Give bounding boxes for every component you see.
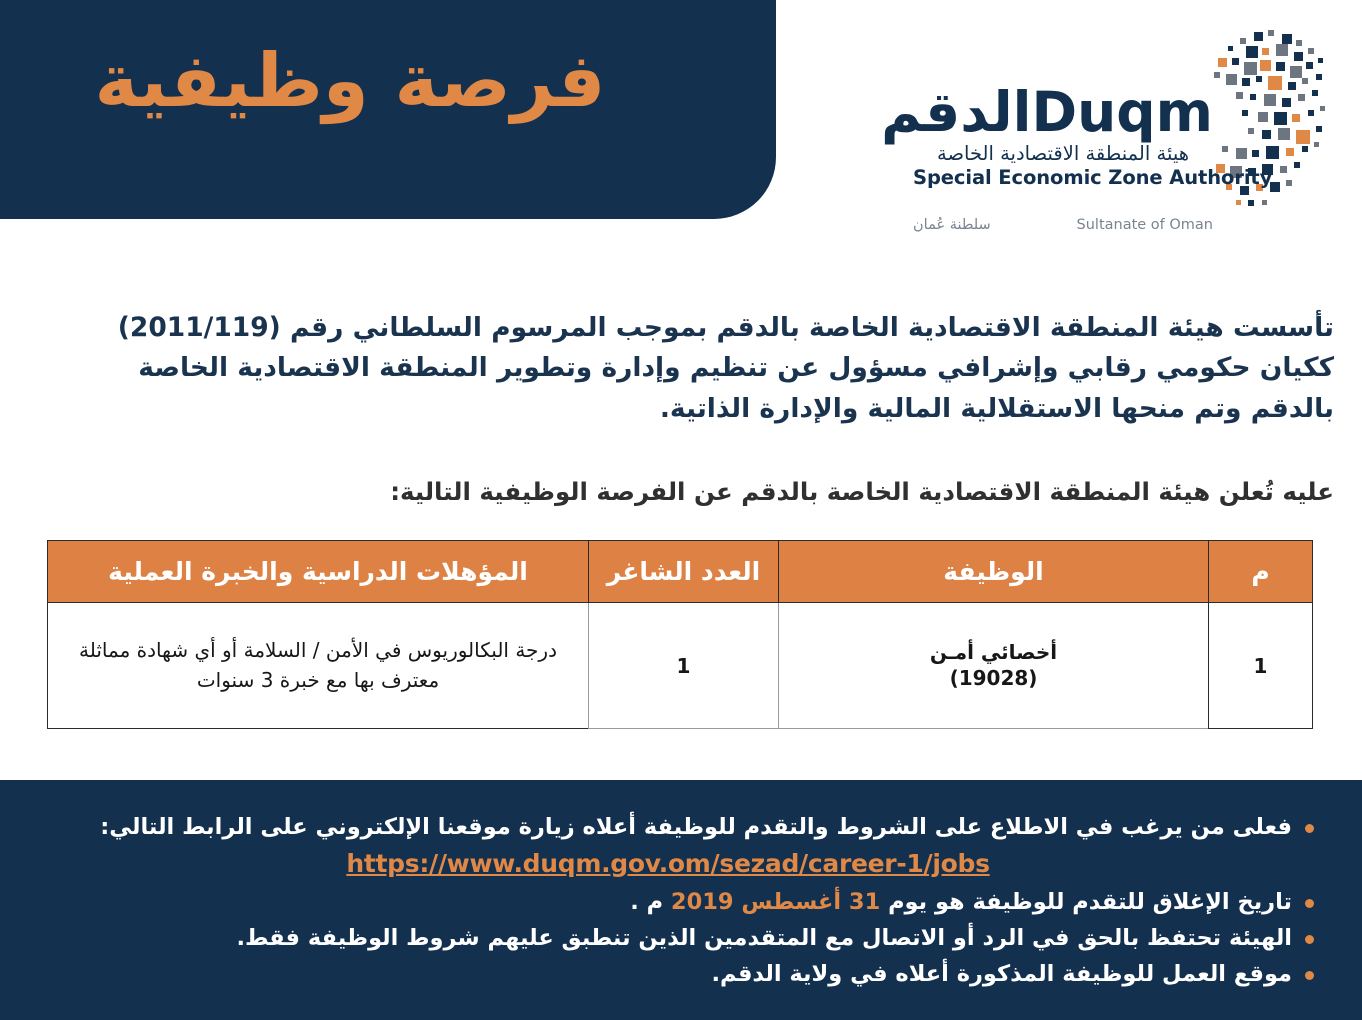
column-header-position: الوظيفة <box>779 541 1209 603</box>
jobs-table-body: 1 أخصائي أمـن (19028) 1 درجة البكالوريوس… <box>48 603 1313 729</box>
logo-subtitle-arabic: هيئة المنطقة الاقتصادية الخاصة <box>913 142 1213 166</box>
cell-position: أخصائي أمـن (19028) <box>779 603 1209 729</box>
bullet-dot-icon <box>1305 899 1314 908</box>
page-title: فرصة وظيفية <box>0 38 700 125</box>
column-header-qualifications: المؤهلات الدراسية والخبرة العملية <box>48 541 589 603</box>
column-header-serial: م <box>1209 541 1313 603</box>
logo-country-english: Sultanate of Oman <box>1077 217 1213 234</box>
jobs-table-head: م الوظيفة العدد الشاغر المؤهلات الدراسية… <box>48 541 1313 603</box>
jobs-table-container: م الوظيفة العدد الشاغر المؤهلات الدراسية… <box>48 540 1313 729</box>
poster-header: فرصة وظيفية <box>0 0 1362 262</box>
position-code: (19028) <box>795 666 1192 691</box>
duqm-mosaic-crescent-icon <box>1202 28 1342 218</box>
header-navy-banner: فرصة وظيفية <box>0 0 776 219</box>
column-header-vacancy-count: العدد الشاغر <box>589 541 779 603</box>
logo-wordmark: Duqmالدقم <box>913 84 1213 140</box>
work-location-name: ولاية الدقم <box>720 961 842 987</box>
footer-note-text: الهيئة تحتفظ بالحق في الرد أو الاتصال مع… <box>236 925 1292 951</box>
organization-logo: Duqmالدقم هيئة المنطقة الاقتصادية الخاصة… <box>905 22 1345 252</box>
announcement-line: عليه تُعلن هيئة المنطقة الاقتصادية الخاص… <box>24 475 1334 509</box>
footer-note-work-location: موقع العمل للوظيفة المذكورة أعلاه في ولا… <box>44 959 1316 991</box>
bullet-dot-icon <box>1305 824 1314 833</box>
poster-body: تأسست هيئة المنطقة الاقتصادية الخاصة بال… <box>0 262 1362 780</box>
cell-qualifications: درجة البكالوريوس في الأمن / السلامة أو أ… <box>48 603 589 729</box>
deadline-text-before: تاريخ الإغلاق للتقدم للوظيفة هو يوم <box>880 889 1292 915</box>
jobs-table: م الوظيفة العدد الشاغر المؤهلات الدراسية… <box>47 540 1313 729</box>
table-row: 1 أخصائي أمـن (19028) 1 درجة البكالوريوس… <box>48 603 1313 729</box>
footer-note-contact-policy: الهيئة تحتفظ بالحق في الرد أو الاتصال مع… <box>44 923 1316 955</box>
cell-vacancy-count: 1 <box>589 603 779 729</box>
footer-notes-list: فعلى من يرغب في الاطلاع على الشروط والتق… <box>44 812 1316 995</box>
footer-note-text: فعلى من يرغب في الاطلاع على الشروط والتق… <box>100 814 1292 840</box>
position-name: أخصائي أمـن <box>795 640 1192 665</box>
job-announcement-poster: فرصة وظيفية <box>0 0 1362 1020</box>
deadline-date: 31 أغسطس 2019 <box>671 889 880 915</box>
deadline-text-after: م . <box>630 889 671 915</box>
location-text-after: . <box>711 961 720 987</box>
logo-wordmark-latin: Duqm <box>1032 80 1214 144</box>
logo-wordmark-arabic: الدقم <box>881 80 1031 144</box>
cell-serial: 1 <box>1209 603 1313 729</box>
location-text-before: موقع العمل للوظيفة المذكورة أعلاه في <box>842 961 1292 987</box>
careers-url-link[interactable]: https://www.duqm.gov.om/sezad/career-1/j… <box>44 846 1292 882</box>
logo-subtitle-english: Special Economic Zone Authority <box>913 166 1213 189</box>
bullet-dot-icon <box>1305 935 1314 944</box>
poster-footer: فعلى من يرغب في الاطلاع على الشروط والتق… <box>0 780 1362 1020</box>
logo-country-arabic: سلطنة عُمان <box>913 217 991 234</box>
intro-paragraph: تأسست هيئة المنطقة الاقتصادية الخاصة بال… <box>24 308 1334 429</box>
footer-note-deadline: تاريخ الإغلاق للتقدم للوظيفة هو يوم 31 أ… <box>44 887 1316 919</box>
table-header-row: م الوظيفة العدد الشاغر المؤهلات الدراسية… <box>48 541 1313 603</box>
logo-country-line: سلطنة عُمان Sultanate of Oman <box>913 217 1213 234</box>
logo-text-group: Duqmالدقم هيئة المنطقة الاقتصادية الخاصة… <box>913 84 1213 189</box>
footer-note-apply-link: فعلى من يرغب في الاطلاع على الشروط والتق… <box>44 812 1316 881</box>
bullet-dot-icon <box>1305 971 1314 980</box>
